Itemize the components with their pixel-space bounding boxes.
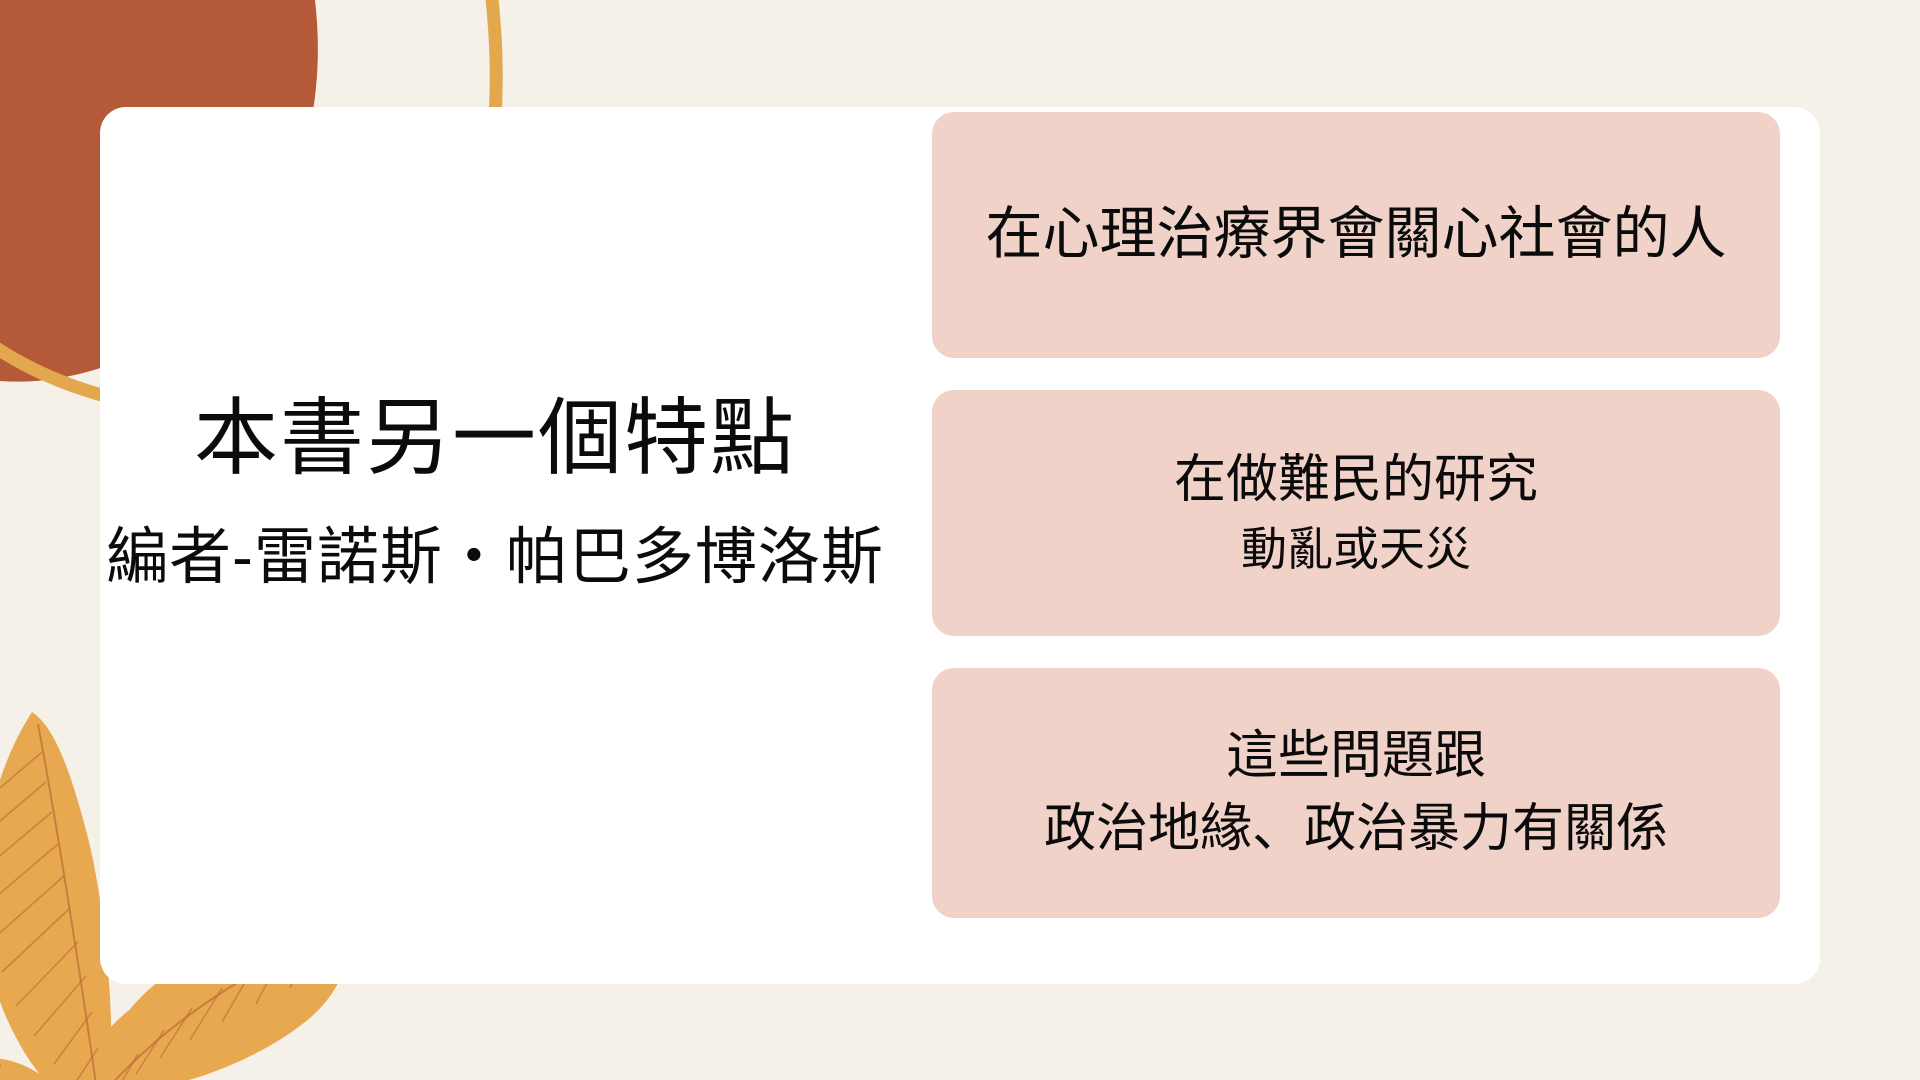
callout-1-line-1: 在心理治療界會關心社會的人 [986,199,1727,270]
leaf-lower-left [0,1058,84,1080]
callout-box-3: 這些問題跟 政治地緣、政治暴力有關係 [932,668,1780,918]
callout-2-line-2: 動亂或天災 [1241,521,1471,579]
callout-box-1: 在心理治療界會關心社會的人 [932,112,1780,358]
callout-2-line-1: 在做難民的研究 [1174,448,1538,513]
callout-3-line-1: 這些問題跟 [1226,724,1486,789]
callout-3-line-2: 政治地緣、政治暴力有關係 [1044,797,1668,862]
callout-column: 在心理治療界會關心社會的人 在做難民的研究 動亂或天災 這些問題跟 政治地緣、政… [932,112,1780,918]
heading-column: 本書另一個特點 編者-雷諾斯・帕巴多博洛斯 [55,390,935,595]
slide-canvas: 本書另一個特點 編者-雷諾斯・帕巴多博洛斯 在心理治療界會關心社會的人 在做難民… [0,0,1920,1080]
page-title: 本書另一個特點 [55,390,935,487]
page-subtitle: 編者-雷諾斯・帕巴多博洛斯 [55,521,935,595]
leaf-upper-left [0,712,112,1080]
callout-box-2: 在做難民的研究 動亂或天災 [932,390,1780,636]
